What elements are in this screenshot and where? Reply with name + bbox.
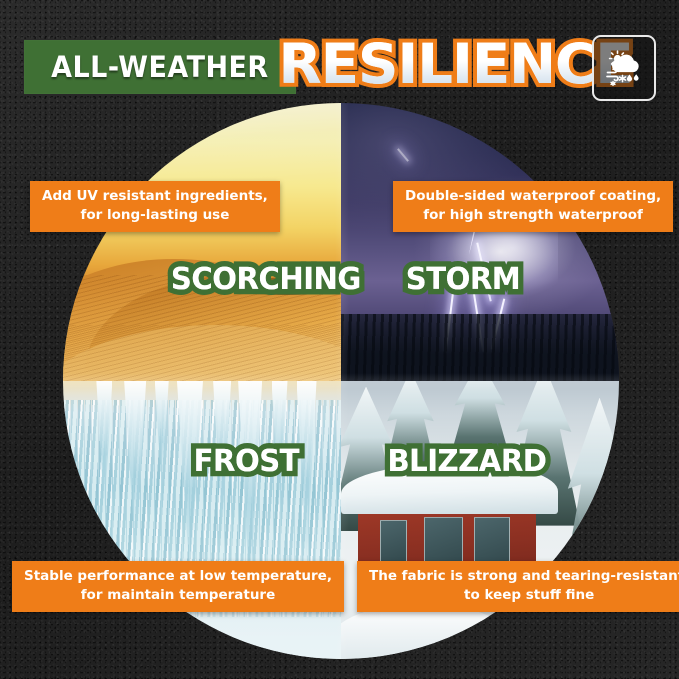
weather-icon-badge bbox=[592, 35, 656, 101]
badge-scorching-outline: SCORCHING bbox=[171, 265, 361, 295]
lightning-bolt-icon bbox=[397, 149, 409, 163]
weather-sun-cloud-wind-rain-snow-icon bbox=[603, 47, 645, 89]
all-weather-resilience-infographic: ALL-WEATHER RESILIENCE RESILIENCE bbox=[0, 0, 679, 679]
horizontal-seam bbox=[63, 373, 619, 390]
quadrant-blizzard bbox=[341, 381, 619, 659]
callout-storm-line1: Double-sided waterproof coating, bbox=[405, 187, 661, 206]
callout-frost-line1: Stable performance at low temperature, bbox=[24, 567, 332, 586]
storm-treeline bbox=[341, 314, 619, 381]
quadrant-scorching bbox=[63, 103, 341, 381]
callout-scorching-line1: Add UV resistant ingredients, bbox=[42, 187, 268, 206]
callout-blizzard-line1: The fabric is strong and tearing-resista… bbox=[369, 567, 679, 586]
callout-scorching-line2: for long-lasting use bbox=[42, 206, 268, 225]
title-green-bar: ALL-WEATHER bbox=[24, 40, 296, 94]
badge-storm-outline: STORM bbox=[406, 265, 520, 295]
page-title-resilience-outline: RESILIENCE bbox=[279, 31, 633, 97]
callout-blizzard-line2: to keep stuff fine bbox=[369, 586, 679, 605]
callout-blizzard: The fabric is strong and tearing-resista… bbox=[357, 561, 679, 612]
callout-storm: Double-sided waterproof coating, for hig… bbox=[393, 181, 673, 232]
quadrant-frost bbox=[63, 381, 341, 659]
header: ALL-WEATHER RESILIENCE RESILIENCE bbox=[24, 35, 656, 97]
callout-scorching: Add UV resistant ingredients, for long-l… bbox=[30, 181, 280, 232]
badge-blizzard-outline: BLIZZARD bbox=[387, 447, 546, 477]
quadrant-storm bbox=[341, 103, 619, 381]
callout-storm-line2: for high strength waterproof bbox=[405, 206, 661, 225]
callout-frost-line2: for maintain temperature bbox=[24, 586, 332, 605]
page-title-all-weather: ALL-WEATHER bbox=[51, 50, 268, 84]
callout-frost: Stable performance at low temperature, f… bbox=[12, 561, 344, 612]
badge-frost-outline: FROST bbox=[194, 447, 299, 477]
